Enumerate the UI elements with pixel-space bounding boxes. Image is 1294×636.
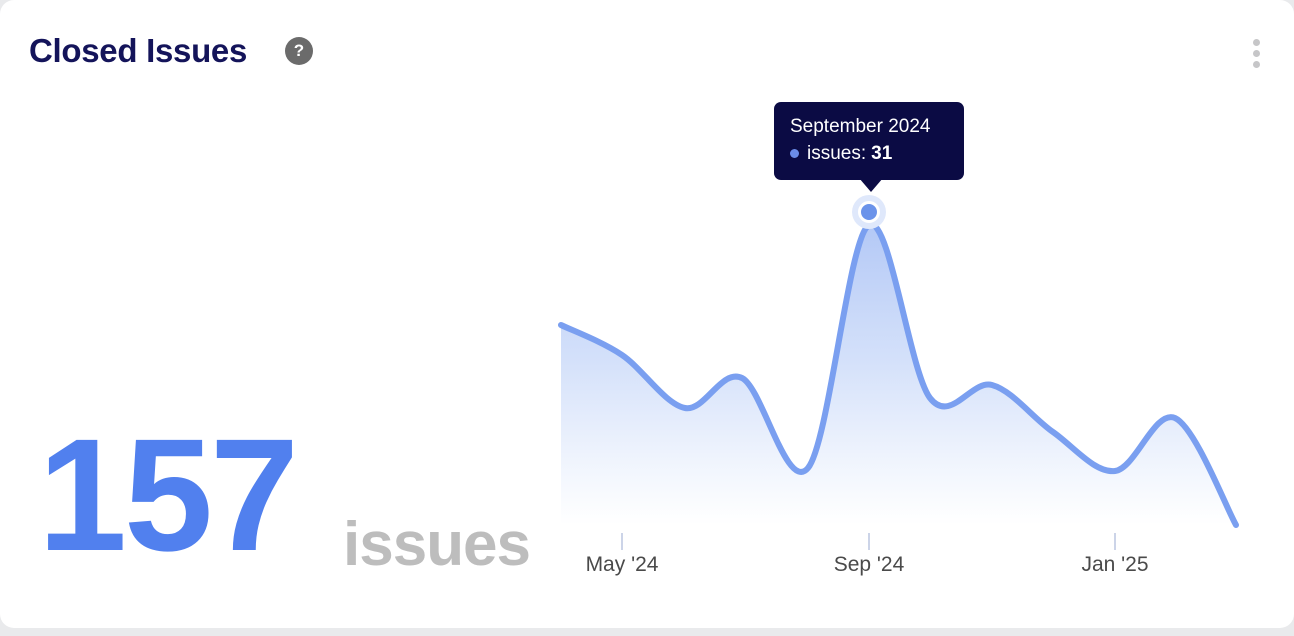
marker-point [858,201,880,223]
chart-tooltip: September 2024 issues: 31 [774,102,964,180]
x-axis-tick-label: Sep '24 [834,552,905,578]
tooltip-arrow [859,178,883,192]
help-icon[interactable]: ? [285,37,313,65]
summary-unit: issues [343,510,530,580]
kebab-menu-icon[interactable] [1242,32,1270,70]
summary-value: 157 [38,410,296,580]
chart-hover-marker[interactable] [852,195,886,229]
card-header: Closed Issues ? [0,0,1294,96]
x-axis-tick-mark [621,533,623,550]
summary-value-block: 157 issues [38,410,558,585]
kebab-dot-2 [1253,50,1260,57]
chart-line [561,224,1236,525]
x-axis-tick-label: Jan '25 [1081,552,1148,578]
chart-area-fill [561,224,1236,525]
tooltip-series-label: issues: [807,141,866,166]
page-title: Closed Issues [29,30,247,72]
tooltip-series-dot [790,149,799,158]
x-axis-tick-label: May '24 [586,552,659,578]
kebab-dot-1 [1253,39,1260,46]
kebab-dot-3 [1253,61,1260,68]
closed-issues-card: Closed Issues ? 157 issues May '24Sep '2… [0,0,1294,628]
x-axis-tick-mark [1114,533,1116,550]
tooltip-series-row: issues: 31 [790,141,948,166]
tooltip-title: September 2024 [790,114,948,139]
x-axis-tick-mark [868,533,870,550]
tooltip-series-value: 31 [871,141,892,166]
